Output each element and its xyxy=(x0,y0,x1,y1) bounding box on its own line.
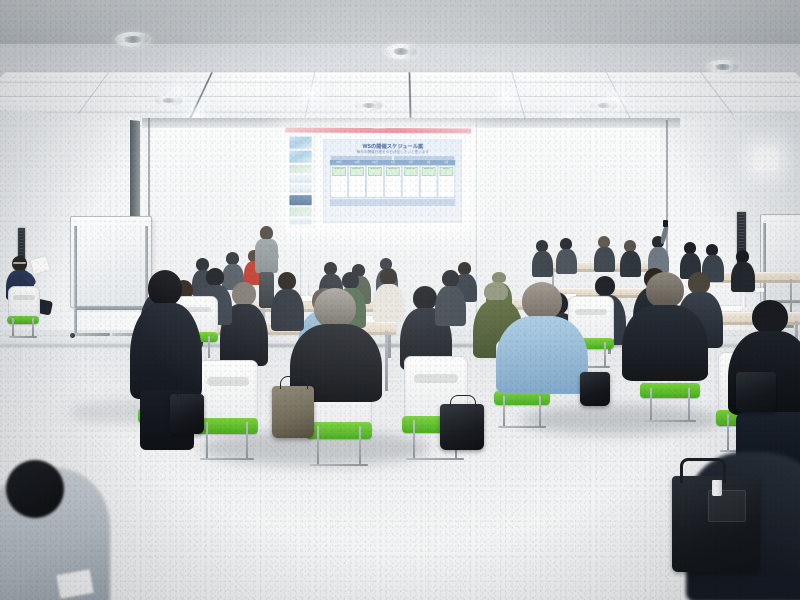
chair-skid xyxy=(644,420,696,422)
attendee-torso xyxy=(496,316,588,394)
photo-scene: PowerPoint WSの開催スケジュール案 毎月の開催日程を今日決定したいと… xyxy=(0,0,800,600)
attendee-head xyxy=(148,270,182,306)
chair-back xyxy=(8,286,40,320)
attendee-head xyxy=(646,272,684,308)
table-cell-chip: 第3回 WS xyxy=(368,167,382,176)
smartphone xyxy=(663,220,668,227)
chair-leg xyxy=(650,388,652,422)
table-cell: 第3回 WS xyxy=(366,165,383,197)
ceiling-spotlight xyxy=(504,95,509,100)
table-body: 第1回 WS 第2回 WS 第3回 WS 第4回 WS 第5回 WS 第6回 W… xyxy=(330,165,455,198)
whiteboard-pen-tray xyxy=(75,306,147,310)
chair-leg xyxy=(12,318,14,338)
slide-thumbnail xyxy=(289,185,311,193)
table-cell-chip: 第4回 WS xyxy=(386,167,400,176)
bag-on-floor xyxy=(170,394,204,434)
chair-leg xyxy=(727,414,729,452)
chair-leg xyxy=(688,388,690,422)
table-cell: 第2回 WS xyxy=(348,165,365,197)
table-cell: 第6回 WS xyxy=(420,165,437,197)
chair-leg xyxy=(32,318,34,338)
slide-app-title: PowerPoint xyxy=(372,128,385,130)
bag-foreground-floor xyxy=(672,476,760,572)
chair-leg xyxy=(206,422,208,460)
bottle-on-table xyxy=(305,283,309,296)
bottle-in-bag xyxy=(712,480,722,496)
whiteboard-surface xyxy=(70,216,152,308)
table-cell: 第5回 WS xyxy=(402,165,419,197)
attendee-foreground-left-head xyxy=(6,460,64,518)
ceiling-downlight xyxy=(115,32,151,47)
chair-back xyxy=(198,360,258,424)
bag-handle xyxy=(177,386,199,397)
facilitator-glasses xyxy=(13,262,26,264)
slide-thumbnail xyxy=(289,218,311,224)
attendee-torso xyxy=(622,305,708,381)
table-cell: 第1回 WS xyxy=(330,165,347,197)
chair-skid xyxy=(498,426,546,428)
slide-thumbnail xyxy=(289,137,311,149)
chair-leg xyxy=(208,336,210,358)
ceiling-downlight xyxy=(706,60,740,74)
ceiling-spotlight xyxy=(176,88,181,93)
chair-skid xyxy=(310,464,368,466)
ceiling-spotlight xyxy=(308,91,313,96)
table-cell-chip: 第6回 WS xyxy=(422,167,436,176)
ceiling-downlight xyxy=(155,95,183,106)
chair-leg xyxy=(317,426,319,466)
chair-leg xyxy=(604,342,606,368)
slide-schedule-table: 10月 11月 12月 1月 2月 3月 4月 第1回 WS 第2回 WS 第3… xyxy=(330,156,455,206)
table-cell: 報告会 xyxy=(438,165,455,197)
table-cell: 第4回 WS xyxy=(384,165,401,197)
chair-skid xyxy=(9,336,37,338)
slide-thumbnail-panel xyxy=(287,135,314,230)
table-cell-chip: 第1回 WS xyxy=(332,167,346,176)
table-cell-chip: 第2回 WS xyxy=(350,167,364,176)
chair-skid xyxy=(200,458,254,460)
slide-thumbnail xyxy=(289,175,311,183)
bag-on-floor xyxy=(580,372,610,406)
chair-seat xyxy=(306,422,373,439)
slide-thumbnail xyxy=(289,165,311,173)
attendee-torso xyxy=(130,303,202,399)
chair-seat xyxy=(640,383,700,398)
bag-on-floor xyxy=(272,386,314,438)
chair-skid xyxy=(406,458,464,460)
whiteboard-surface xyxy=(760,214,800,302)
table-cell-chip: 第5回 WS xyxy=(404,167,418,176)
slide-content-card: WSの開催スケジュール案 毎月の開催日程を今日決定したいと思います 10月 11… xyxy=(323,139,462,223)
bag-handle xyxy=(450,395,476,407)
presenter-head xyxy=(260,226,273,240)
bag-handle xyxy=(280,376,308,389)
bag-on-floor xyxy=(736,372,776,412)
ceiling-downlight xyxy=(355,100,383,111)
slide-thumbnail-selected xyxy=(289,195,311,205)
attendee-head xyxy=(522,282,562,320)
slide-canvas: WSの開催スケジュール案 毎月の開催日程を今日決定したいと思います 10月 11… xyxy=(316,136,468,229)
attendee-head xyxy=(314,288,356,328)
slide-thumbnail xyxy=(289,207,311,216)
slide-thumbnail xyxy=(289,151,311,163)
bottle-on-table xyxy=(742,296,746,308)
whiteboard-foot xyxy=(70,333,110,336)
slide-app-topbar: PowerPoint xyxy=(285,128,471,134)
slide-subtitle: 毎月の開催日程を今日決定したいと思います xyxy=(324,150,461,155)
table-footer-band xyxy=(330,199,455,206)
chair-facilitator xyxy=(8,286,38,338)
chair xyxy=(198,360,256,460)
chair-leg xyxy=(503,396,505,428)
bag-on-floor xyxy=(440,404,484,450)
projection-screen: PowerPoint WSの開催スケジュール案 毎月の開催日程を今日決定したいと… xyxy=(285,128,471,233)
table-leg xyxy=(385,331,388,391)
whiteboard-post xyxy=(74,226,77,333)
chair-leg xyxy=(413,420,415,460)
ceiling-downlight xyxy=(384,44,418,59)
attendee-head xyxy=(752,300,788,334)
whiteboard-caster xyxy=(70,333,75,338)
table-cell-chip: 報告会 xyxy=(439,167,453,176)
wall-light-fixture xyxy=(754,148,778,170)
chair-leg xyxy=(539,396,541,428)
chair-leg xyxy=(359,426,361,466)
ceiling-spotlight xyxy=(612,97,617,102)
chair-leg xyxy=(246,422,248,460)
